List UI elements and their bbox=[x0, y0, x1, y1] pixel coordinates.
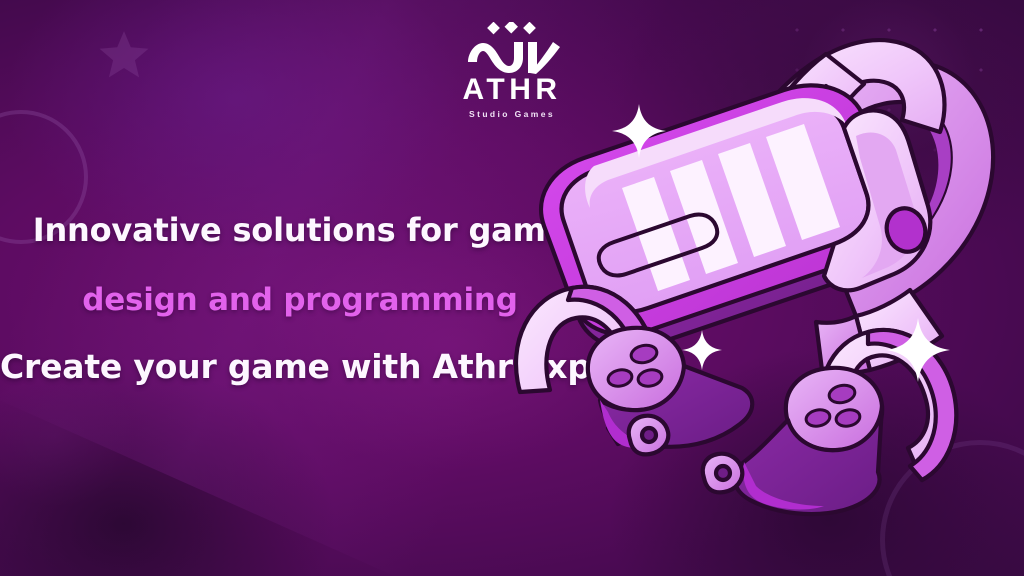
brand-logo: ATHR Studio Games bbox=[402, 22, 622, 119]
brand-name: ATHR bbox=[402, 75, 622, 105]
athr-monogram-icon bbox=[464, 22, 560, 74]
brand-tagline: Studio Games bbox=[402, 110, 622, 119]
headline-line-2: design and programming bbox=[0, 284, 600, 317]
headline-line-3: Create your game with Athr experts bbox=[0, 350, 600, 385]
headline-line-1: Innovative solutions for game bbox=[0, 214, 600, 248]
promo-banner: ATHR Studio Games Innovative solutions f… bbox=[0, 0, 1024, 576]
dot-grid-decor bbox=[774, 10, 1024, 210]
headline-block: Innovative solutions for game design and… bbox=[0, 214, 600, 385]
star-icon bbox=[98, 28, 150, 80]
